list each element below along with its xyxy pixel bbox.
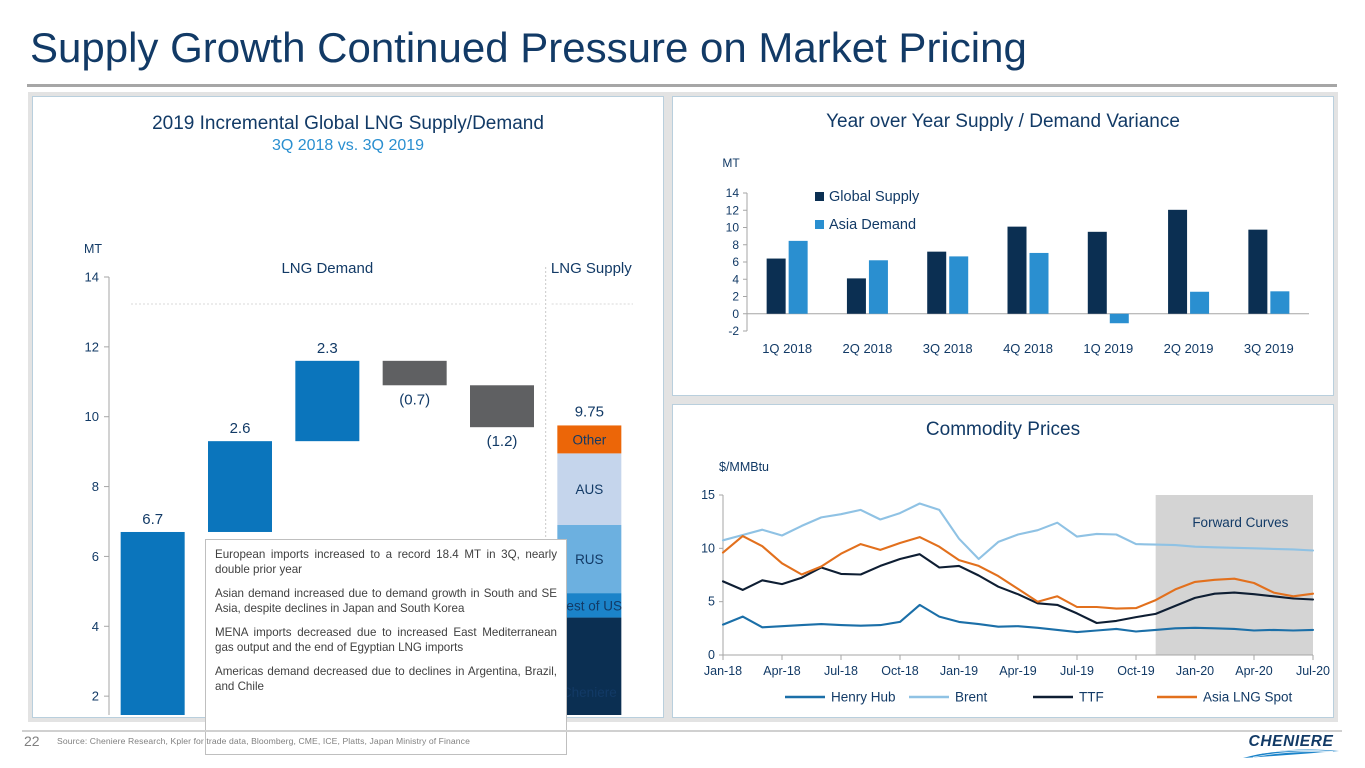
waterfall-subtitle: 3Q 2018 vs. 3Q 2019 [33, 137, 663, 155]
commodity-legend-label: Henry Hub [831, 690, 896, 705]
variance-x-label: 3Q 2019 [1244, 341, 1294, 356]
variance-legend-label: Global Supply [829, 189, 920, 205]
footer-divider [22, 730, 1342, 732]
waterfall-bar-label: 6.7 [142, 511, 163, 528]
commodity-x-label: Jan-20 [1176, 664, 1214, 678]
commodity-legend-label: TTF [1079, 690, 1104, 705]
commodity-x-label: Jul-20 [1296, 664, 1330, 678]
variance-y-tick-label: 4 [732, 272, 739, 286]
variance-legend-swatch [815, 192, 824, 201]
variance-y-tick-label: 8 [732, 238, 739, 252]
commodity-x-label: Oct-19 [1117, 664, 1155, 678]
supply-stack-label: RUS [575, 552, 604, 567]
waterfall-supply-label: LNG Supply [551, 260, 632, 277]
variance-bar [1248, 230, 1267, 314]
variance-bar [1190, 292, 1209, 314]
commodity-x-label: Jul-18 [824, 664, 858, 678]
commodity-y-tick-label: 0 [708, 648, 715, 662]
variance-x-label: 3Q 2018 [923, 341, 973, 356]
variance-y-tick-label: 0 [732, 307, 739, 321]
commodity-panel: Commodity Prices $/MMBtuForward Curves05… [672, 404, 1334, 718]
variance-title: Year over Year Supply / Demand Variance [673, 111, 1333, 133]
variance-bar [789, 241, 808, 314]
logo-wordmark: CHENIERE [1249, 733, 1334, 750]
supply-stack-label: Other [572, 432, 606, 447]
commodity-x-label: Apr-18 [763, 664, 801, 678]
commodity-x-label: Apr-20 [1235, 664, 1273, 678]
variance-bar [1088, 232, 1107, 314]
variance-bar [1270, 291, 1289, 313]
waterfall-callout-box: European imports increased to a record 1… [205, 539, 567, 755]
waterfall-y-tick-label: 10 [85, 409, 99, 424]
variance-bar [1168, 210, 1187, 314]
page-title: Supply Growth Continued Pressure on Mark… [30, 24, 1027, 72]
page-number: 22 [24, 733, 40, 749]
waterfall-bar [470, 385, 534, 427]
variance-y-tick-label: 6 [732, 255, 739, 269]
callout-paragraph: European imports increased to a record 1… [215, 547, 557, 577]
variance-chart: MT-202468101214Global SupplyAsia Demand1… [673, 135, 1331, 393]
variance-legend-swatch [815, 220, 824, 229]
commodity-axis-unit: $/MMBtu [719, 460, 769, 474]
commodity-x-label: Jul-19 [1060, 664, 1094, 678]
variance-bar [949, 256, 968, 313]
title-divider [27, 84, 1337, 87]
waterfall-bar [383, 361, 447, 385]
variance-bar [1008, 227, 1027, 314]
waterfall-bar-label: (0.7) [399, 391, 430, 408]
source-note: Source: Cheniere Research, Kpler for tra… [57, 736, 470, 746]
waterfall-bar [208, 441, 272, 532]
variance-x-label: 4Q 2018 [1003, 341, 1053, 356]
variance-legend-label: Asia Demand [829, 217, 916, 233]
commodity-x-label: Jan-19 [940, 664, 978, 678]
waterfall-title: 2019 Incremental Global LNG Supply/Deman… [33, 113, 663, 135]
waterfall-y-tick-label: 4 [92, 619, 99, 634]
waterfall-y-tick-label: 6 [92, 549, 99, 564]
callout-paragraph: Asian demand increased due to demand gro… [215, 586, 557, 616]
forward-curves-label: Forward Curves [1192, 515, 1288, 530]
variance-x-label: 1Q 2019 [1083, 341, 1133, 356]
waterfall-bar-label: 2.6 [230, 420, 251, 437]
callout-paragraph: MENA imports decreased due to increased … [215, 625, 557, 655]
commodity-legend-label: Brent [955, 690, 988, 705]
variance-x-label: 1Q 2018 [762, 341, 812, 356]
supply-stack-label: AUS [575, 482, 603, 497]
variance-y-tick-label: 10 [726, 221, 740, 235]
waterfall-bar-label: 2.3 [317, 340, 338, 357]
supply-total-label: 9.75 [575, 403, 604, 420]
variance-panel: Year over Year Supply / Demand Variance … [672, 96, 1334, 396]
waterfall-bar [295, 361, 359, 441]
waterfall-panel: 2019 Incremental Global LNG Supply/Deman… [32, 96, 664, 718]
slide: Supply Growth Continued Pressure on Mark… [0, 0, 1365, 768]
cheniere-logo: CHENIERE [1235, 731, 1347, 763]
variance-bar [1110, 314, 1129, 323]
variance-bar [1030, 253, 1049, 314]
variance-x-label: 2Q 2018 [842, 341, 892, 356]
variance-bar [847, 278, 866, 313]
variance-y-tick-label: -2 [728, 324, 739, 338]
variance-bar [767, 259, 786, 314]
commodity-y-tick-label: 15 [701, 488, 715, 502]
variance-axis-unit: MT [722, 156, 740, 170]
waterfall-demand-label: LNG Demand [281, 260, 373, 277]
waterfall-axis-unit: MT [84, 242, 102, 256]
waterfall-y-tick-label: 2 [92, 689, 99, 704]
waterfall-bar [121, 532, 185, 715]
waterfall-y-tick-label: 8 [92, 479, 99, 494]
commodity-y-tick-label: 10 [701, 541, 715, 555]
commodity-y-tick-label: 5 [708, 595, 715, 609]
callout-paragraph: Americas demand decreased due to decline… [215, 664, 557, 694]
variance-bar [869, 260, 888, 313]
supply-stack-label: Cheniere [562, 685, 617, 700]
waterfall-y-tick-label: 14 [85, 270, 99, 285]
waterfall-bar-label: (1.2) [487, 433, 518, 450]
commodity-x-label: Oct-18 [881, 664, 919, 678]
variance-y-tick-label: 12 [726, 203, 740, 217]
commodity-title: Commodity Prices [673, 419, 1333, 441]
commodity-legend-label: Asia LNG Spot [1203, 690, 1293, 705]
variance-x-label: 2Q 2019 [1164, 341, 1214, 356]
variance-y-tick-label: 14 [726, 186, 740, 200]
commodity-x-label: Jan-18 [704, 664, 742, 678]
commodity-chart: $/MMBtuForward Curves051015Jan-18Apr-18J… [673, 443, 1331, 715]
commodity-x-label: Apr-19 [999, 664, 1037, 678]
waterfall-y-tick-label: 12 [85, 339, 99, 354]
variance-bar [927, 252, 946, 314]
variance-y-tick-label: 2 [732, 290, 739, 304]
